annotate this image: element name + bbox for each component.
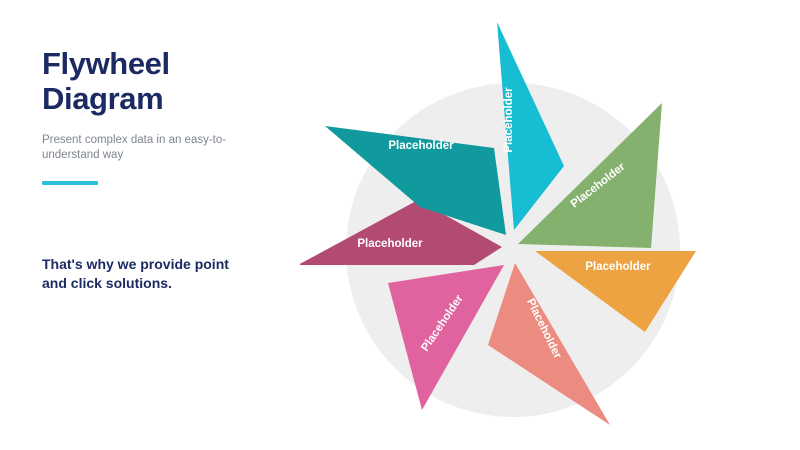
slide-header-block: Flywheel Diagram Present complex data in…: [42, 46, 292, 185]
blade-label-orange: Placeholder: [585, 261, 651, 273]
blade-label-teal: Placeholder: [388, 140, 454, 152]
blade-label-maroon: Placeholder: [357, 238, 423, 250]
page-subtitle: Present complex data in an easy-to-under…: [42, 133, 227, 163]
slide-canvas: Flywheel Diagram Present complex data in…: [0, 0, 800, 450]
body-statement: That's why we provide point and click so…: [42, 255, 247, 293]
blade-label-cyan: Placeholder: [503, 87, 515, 153]
page-title: Flywheel Diagram: [42, 46, 292, 116]
flywheel-diagram: Placeholder Placeholder Placeholder Plac…: [300, 0, 800, 450]
accent-divider: [42, 181, 98, 185]
